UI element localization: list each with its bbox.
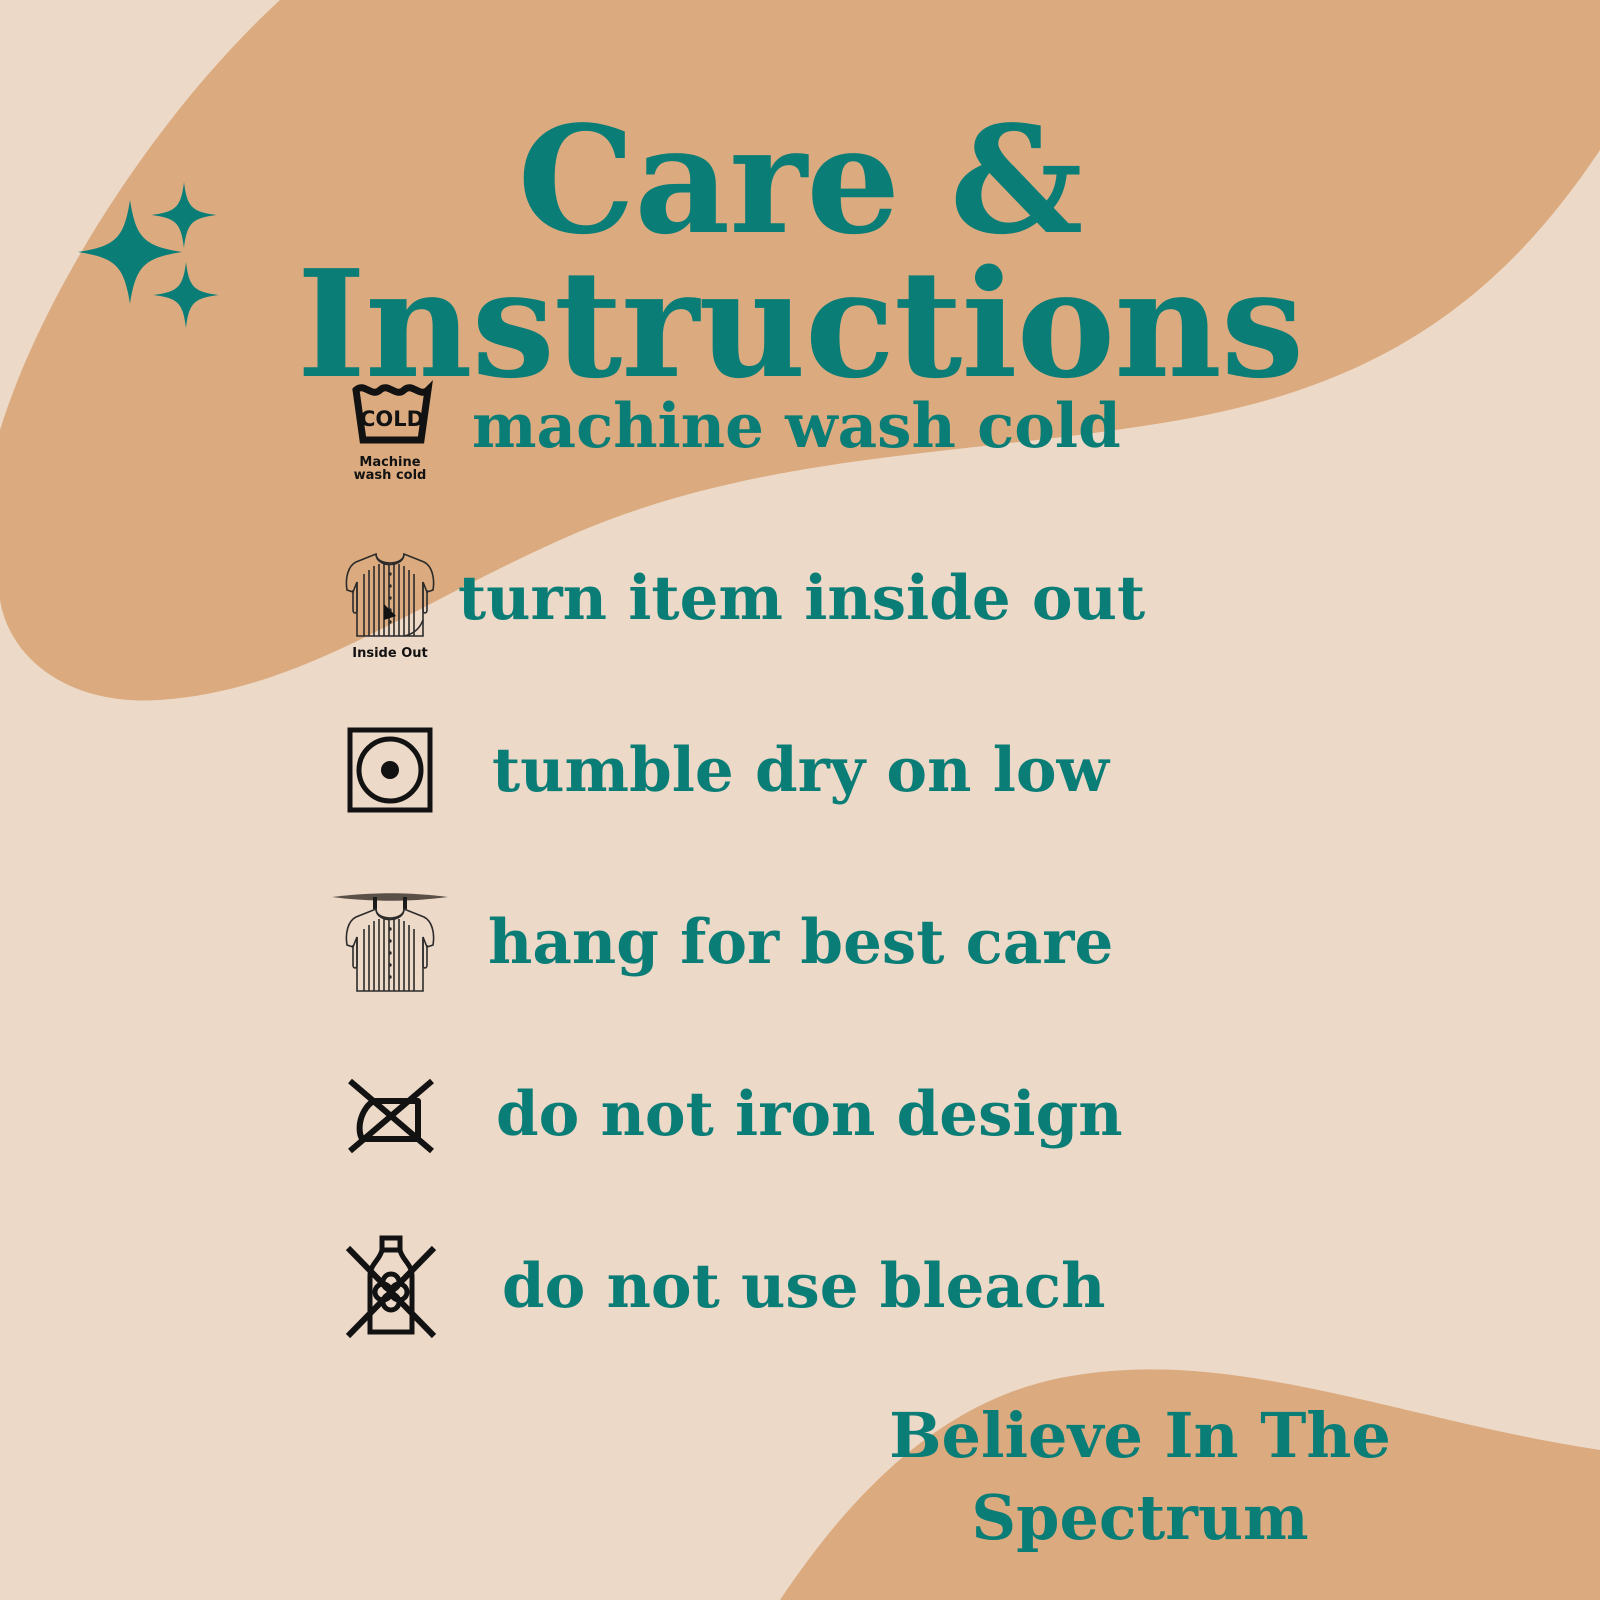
list-item-label: hang for best care bbox=[488, 912, 1113, 973]
hang-dry-shirt-icon bbox=[330, 877, 450, 1007]
care-instructions-poster: Care & Instructions COLD Machine wash co… bbox=[0, 0, 1600, 1600]
list-item-label: do not use bleach bbox=[502, 1256, 1105, 1317]
machine-wash-cold-icon: COLD Machine wash cold bbox=[330, 361, 450, 491]
list-item-label: do not iron design bbox=[496, 1084, 1123, 1145]
striped-shirt-glyph bbox=[340, 544, 440, 652]
list-item-label: turn item inside out bbox=[458, 568, 1145, 629]
machine-wash-caption: Machine wash cold bbox=[330, 456, 450, 483]
brand-name: Believe In The Spectrum bbox=[760, 1395, 1520, 1559]
hanging-shirt-glyph bbox=[330, 883, 450, 1001]
iron-crossed-glyph bbox=[340, 1067, 440, 1161]
turn-inside-out-shirt-icon: Inside Out bbox=[330, 533, 450, 663]
do-not-bleach-icon bbox=[330, 1221, 450, 1351]
tumble-dry-glyph bbox=[344, 724, 436, 816]
instruction-list: COLD Machine wash cold machine wash cold bbox=[330, 340, 1230, 1372]
caption-line-2: wash cold bbox=[354, 468, 427, 483]
list-item: tumble dry on low bbox=[330, 684, 1230, 856]
list-item: Inside Out turn item inside out bbox=[330, 512, 1230, 684]
list-item: hang for best care bbox=[330, 856, 1230, 1028]
list-item-label: tumble dry on low bbox=[492, 740, 1109, 801]
list-item: do not use bleach bbox=[330, 1200, 1230, 1372]
brand-line-1: Believe In The bbox=[889, 1399, 1391, 1472]
list-item-label: machine wash cold bbox=[472, 396, 1121, 457]
list-item: do not iron design bbox=[330, 1028, 1230, 1200]
bleach-bottle-crossed-glyph bbox=[340, 1230, 440, 1342]
brand-line-2: Spectrum bbox=[760, 1477, 1520, 1559]
tumble-dry-low-icon bbox=[330, 705, 450, 835]
cold-badge-text: COLD bbox=[360, 407, 424, 431]
list-item: COLD Machine wash cold machine wash cold bbox=[330, 340, 1230, 512]
inside-out-caption: Inside Out bbox=[330, 647, 450, 661]
do-not-iron-icon bbox=[330, 1049, 450, 1179]
